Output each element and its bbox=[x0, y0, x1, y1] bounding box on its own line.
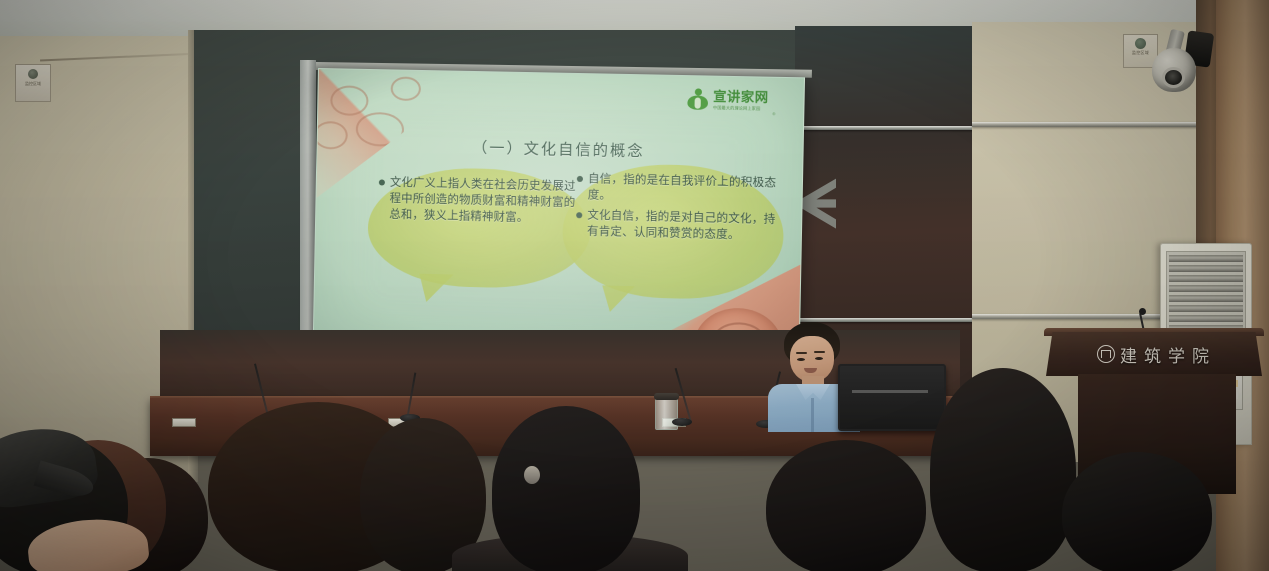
camera-lens-icon bbox=[1165, 70, 1182, 85]
projection-screen: 宣讲家网 中国最大的理论网上家园 ® （一）文化自信的概念 文化广义上指人类在社… bbox=[313, 68, 805, 366]
slide-logo-subtitle: 中国最大的理论网上家园 bbox=[713, 105, 769, 110]
right-wall-trim-upper bbox=[972, 122, 1222, 127]
wall-notice-box: 监控区域 bbox=[15, 64, 51, 102]
bullet-dot-icon bbox=[577, 176, 583, 182]
bullet-dot-icon bbox=[576, 212, 582, 218]
water-jar bbox=[655, 398, 678, 430]
lecture-hall-photo: ᗕ 监控区域 监控区域 bbox=[0, 0, 1269, 571]
microphone-base bbox=[672, 418, 692, 426]
slide-logo-name: 宣讲家网 bbox=[713, 90, 769, 104]
slide-bullet-text: 文化广义上指人类在社会历史发展过程中所创造的物质财富和精神财富的总和，狭义上指精… bbox=[389, 175, 586, 228]
podium-microphone-head bbox=[1139, 308, 1146, 315]
podium-label: 建筑学院 bbox=[1046, 342, 1262, 367]
circular-logo-icon bbox=[28, 69, 38, 79]
slide-bullet-item: 文化广义上指人类在社会历史发展过程中所创造的物质财富和精神财富的总和，狭义上指精… bbox=[378, 174, 586, 227]
slide-logo: 宣讲家网 中国最大的理论网上家园 ® bbox=[686, 84, 789, 116]
slide-bullet-text: 自信，指的是在自我评价上的积极态度。 bbox=[588, 171, 782, 208]
slide-title: （一）文化自信的概念 bbox=[317, 133, 802, 165]
trademark-icon: ® bbox=[772, 111, 775, 116]
wall-notice-text: 监控区域 bbox=[16, 81, 50, 86]
slide-bullet-text: 文化自信，指的是对自己的文化，持有肯定、认同和赞赏的态度。 bbox=[587, 207, 781, 244]
audience-head bbox=[492, 406, 640, 571]
person-figure-icon bbox=[686, 88, 709, 111]
slide-bullet-item: 文化自信，指的是对自己的文化，持有肯定、认同和赞赏的态度。 bbox=[576, 207, 781, 244]
slide-bullet-item: 自信，指的是在自我评价上的积极态度。 bbox=[576, 171, 781, 208]
table-nameplate bbox=[172, 418, 196, 427]
audience-head bbox=[1062, 452, 1212, 571]
slide-bullets-left: 文化广义上指人类在社会历史发展过程中所创造的物质财富和精神财富的总和，狭义上指精… bbox=[378, 174, 586, 231]
monitor-screen-strip bbox=[852, 390, 928, 393]
slide-logo-text: 宣讲家网 中国最大的理论网上家园 bbox=[713, 90, 769, 110]
camera-plaque-text: 监控区域 bbox=[1124, 50, 1157, 55]
hair-clip-icon bbox=[524, 466, 540, 484]
presenter-shirt-placket bbox=[811, 398, 814, 432]
presenter-monitor bbox=[838, 364, 946, 431]
bullet-dot-icon bbox=[379, 179, 385, 185]
wall-trim-upper bbox=[795, 126, 977, 130]
audience-head bbox=[766, 440, 926, 571]
slide-bullets-right: 自信，指的是在自我评价上的积极态度。 文化自信，指的是对自己的文化，持有肯定、认… bbox=[576, 171, 782, 249]
circular-logo-icon bbox=[1135, 38, 1146, 49]
audience-head bbox=[930, 368, 1076, 571]
